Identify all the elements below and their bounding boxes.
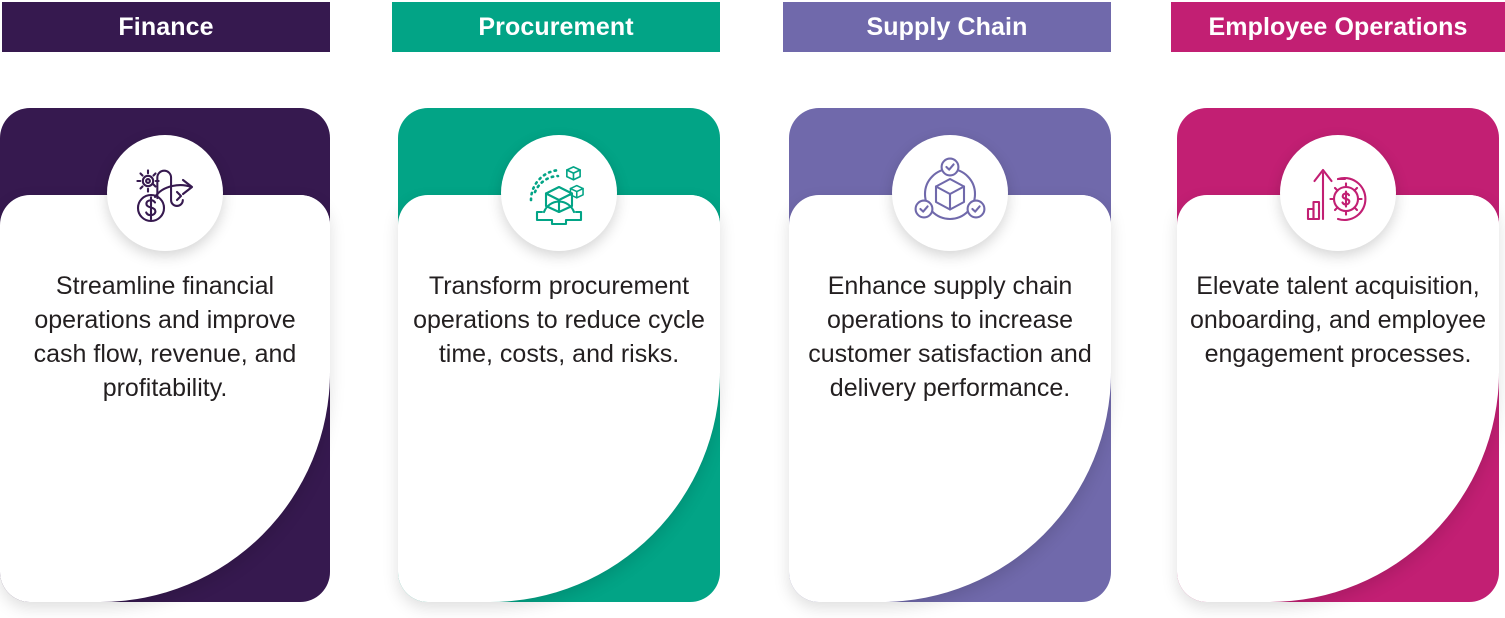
gear-dollar-flow-icon [107,135,223,251]
growth-arrow-gear-dollar-icon [1280,135,1396,251]
cube-orbit-check-icon [892,135,1008,251]
infographic-canvas: FinanceStreamline financial operations a… [0,0,1505,618]
pillar-column-employee-operations: Employee OperationsElevate talent acquis… [0,0,1505,618]
pillar-description-employee-operations: Elevate talent acquisition, onboarding, … [1185,269,1491,371]
pillar-header-employee-operations[interactable]: Employee Operations [1171,2,1505,52]
pillar-card-employee-operations[interactable]: Elevate talent acquisition, onboarding, … [1177,108,1499,602]
pillar-title-employee-operations: Employee Operations [1209,15,1468,40]
gear-boxes-icon [501,135,617,251]
